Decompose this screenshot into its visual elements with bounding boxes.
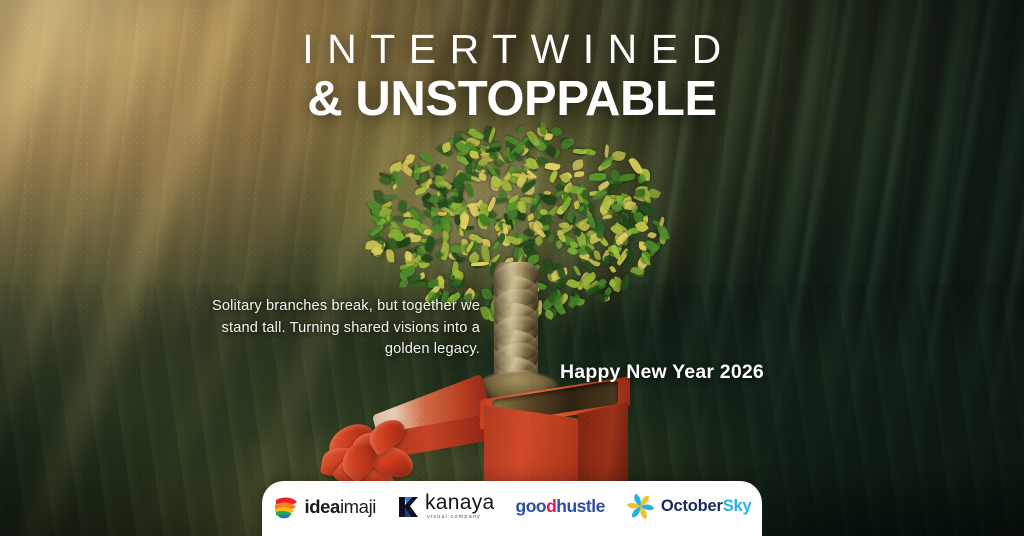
- logo-goodhustle-part2: hustle: [556, 496, 605, 516]
- logo-octobersky-text: OctoberSky: [661, 497, 752, 516]
- headline-primary: INTERTWINED: [0, 26, 1024, 73]
- tagline-text: Solitary branches break, but together we…: [180, 296, 480, 361]
- logo-octobersky[interactable]: OctoberSky: [626, 492, 752, 521]
- logo-ideaimaji[interactable]: ideaimaji: [273, 493, 376, 521]
- stylized-k-icon: [397, 494, 419, 520]
- bonsai-braided-trunk: [494, 262, 538, 386]
- bonsai-leaf: [518, 201, 527, 214]
- bonsai-leaf: [570, 242, 578, 248]
- logo-ideaimaji-bold: idea: [305, 496, 340, 517]
- logo-ideaimaji-text: ideaimaji: [305, 496, 376, 518]
- layered-leaf-icon: [273, 493, 299, 521]
- headline-secondary: & UNSTOPPABLE: [0, 71, 1024, 127]
- partner-logo-bar: ideaimaji kanaya visual company goodhust…: [262, 481, 762, 536]
- logo-goodhustle-text: goodhustle: [516, 496, 605, 517]
- bonsai-leaf: [413, 164, 420, 180]
- bonsai-leaf: [470, 150, 479, 159]
- logo-goodhustle-part1: goo: [516, 496, 547, 516]
- logo-octobersky-dark: October: [661, 497, 723, 515]
- logo-kanaya-subtitle: visual company: [427, 515, 481, 521]
- logo-kanaya[interactable]: kanaya visual company: [397, 492, 495, 521]
- bonsai-leaf: [588, 172, 605, 181]
- logo-kanaya-text: kanaya: [425, 492, 495, 513]
- poster-canvas: INTERTWINED & UNSTOPPABLE Solitary branc…: [0, 0, 1024, 536]
- logo-goodhustle[interactable]: goodhustle: [516, 496, 605, 517]
- logo-kanaya-textblock: kanaya visual company: [425, 492, 495, 521]
- bonsai-leaf: [448, 244, 465, 254]
- logo-goodhustle-accent: d: [546, 496, 556, 516]
- bonsai-leaf: [634, 189, 644, 197]
- logo-ideaimaji-regular: imaji: [340, 496, 376, 517]
- greeting-text: Happy New Year 2026: [560, 361, 764, 384]
- pinwheel-icon: [626, 492, 655, 521]
- bonsai-leaf: [438, 276, 444, 289]
- logo-octobersky-accent: Sky: [723, 497, 752, 515]
- bonsai-leaf: [386, 250, 394, 263]
